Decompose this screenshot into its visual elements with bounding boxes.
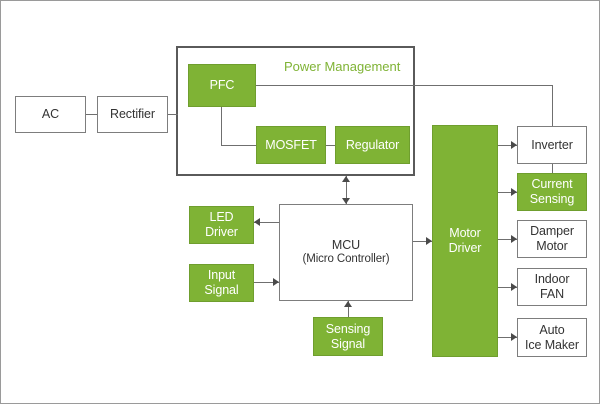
group-power-management-title: Power Management xyxy=(284,59,400,74)
wire-pfc-bus-right xyxy=(256,85,552,86)
wire-pfc-drop xyxy=(221,107,222,145)
node-mosfet[interactable]: MOSFET xyxy=(256,126,326,164)
wire-mosfet-to-regulator xyxy=(326,145,335,146)
node-inverter-label: Inverter xyxy=(531,138,573,153)
node-current-sensing-label-line2: Sensing xyxy=(530,192,574,207)
node-ac-label: AC xyxy=(42,107,59,122)
wire-pfc-to-mosfet xyxy=(221,145,256,146)
node-led-driver-label-line1: LED xyxy=(205,210,238,225)
arrow-mcu-to-led-driver xyxy=(254,218,260,226)
node-pfc[interactable]: PFC xyxy=(188,64,256,107)
node-inverter[interactable]: Inverter xyxy=(517,126,587,164)
node-auto-ice-maker[interactable]: Auto Ice Maker xyxy=(517,318,587,357)
node-sensing-signal-label-line2: Signal xyxy=(326,337,370,352)
node-mcu-label-line1: MCU xyxy=(302,238,389,253)
node-regulator[interactable]: Regulator xyxy=(335,126,410,164)
node-sensing-signal-label-line1: Sensing xyxy=(326,322,370,337)
node-auto-ice-maker-label-line1: Auto xyxy=(525,323,579,338)
node-motor-driver-label-line1: Motor xyxy=(449,226,482,241)
node-mosfet-label: MOSFET xyxy=(265,138,316,153)
node-led-driver-label-line2: Driver xyxy=(205,225,238,240)
wire-rectifier-to-power-management xyxy=(168,114,178,115)
node-regulator-label: Regulator xyxy=(346,138,399,153)
node-pfc-label: PFC xyxy=(210,78,235,93)
node-motor-driver-label-line2: Driver xyxy=(449,241,482,256)
node-indoor-fan[interactable]: Indoor FAN xyxy=(517,268,587,306)
arrow-sensing-signal-to-mcu xyxy=(344,301,352,307)
node-rectifier-label: Rectifier xyxy=(110,107,155,122)
wire-inverter-to-current-sensing xyxy=(552,164,553,173)
node-input-signal-label-line1: Input xyxy=(204,268,238,283)
node-rectifier[interactable]: Rectifier xyxy=(97,96,168,133)
node-sensing-signal[interactable]: Sensing Signal xyxy=(313,317,383,356)
node-mcu[interactable]: MCU (Micro Controller) xyxy=(279,204,413,301)
node-mcu-label-line2: (Micro Controller) xyxy=(302,253,389,267)
node-indoor-fan-label-line1: Indoor xyxy=(535,272,570,287)
node-damper-motor[interactable]: Damper Motor xyxy=(517,220,587,258)
node-current-sensing[interactable]: Current Sensing xyxy=(517,173,587,211)
node-indoor-fan-label-line2: FAN xyxy=(535,287,570,302)
node-current-sensing-label-line1: Current xyxy=(530,177,574,192)
node-damper-motor-label-line1: Damper xyxy=(530,224,574,239)
node-damper-motor-label-line2: Motor xyxy=(530,239,574,254)
node-auto-ice-maker-label-line2: Ice Maker xyxy=(525,338,579,353)
wire-ac-to-rectifier xyxy=(86,114,97,115)
node-input-signal-label-line2: Signal xyxy=(204,283,238,298)
block-diagram-canvas: Power Management AC Rectifier PFC MOSFET… xyxy=(0,0,600,404)
arrow-mcu-to-power-management xyxy=(342,176,350,182)
wire-pfc-bus-down xyxy=(552,85,553,126)
node-led-driver[interactable]: LED Driver xyxy=(189,206,254,244)
node-motor-driver[interactable]: Motor Driver xyxy=(432,125,498,357)
node-input-signal[interactable]: Input Signal xyxy=(189,264,254,302)
node-ac[interactable]: AC xyxy=(15,96,86,133)
